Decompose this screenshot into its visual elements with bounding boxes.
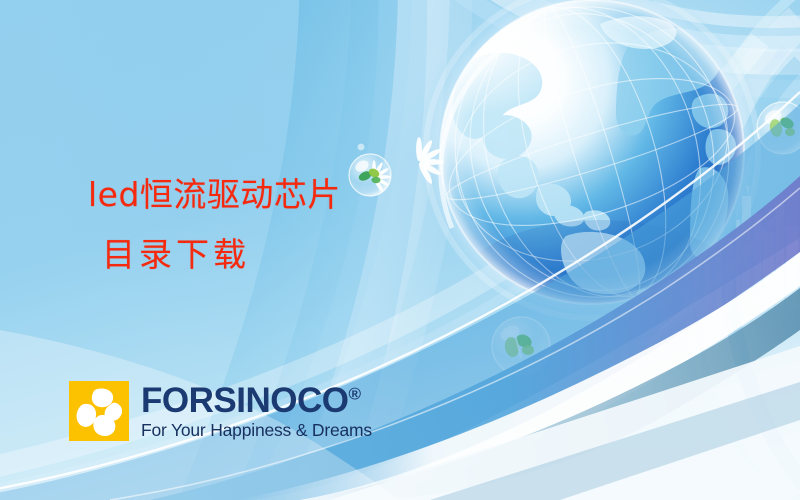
registered-trademark-symbol: ®: [348, 384, 360, 403]
clover-icon: [69, 381, 129, 441]
headline-line-1: led恒流驱动芯片: [88, 175, 341, 214]
brand-name: FORSINOCO®: [141, 383, 372, 418]
headline-text: led恒流驱动芯片 目录下载: [88, 165, 508, 285]
sparkle-dot: [358, 144, 365, 151]
poster-canvas: led恒流驱动芯片 目录下载 FORSINOCO® For Your Happ: [0, 0, 800, 500]
brand-logo-lockup: FORSINOCO® For Your Happiness & Dreams: [69, 381, 372, 441]
brand-name-word: FORSINOCO: [141, 381, 348, 420]
four-petal-clover-logo: [69, 381, 129, 441]
headline-line-2: 目录下载: [88, 225, 508, 285]
brand-tagline: For Your Happiness & Dreams: [141, 422, 372, 440]
brand-text-block: FORSINOCO® For Your Happiness & Dreams: [141, 383, 372, 440]
